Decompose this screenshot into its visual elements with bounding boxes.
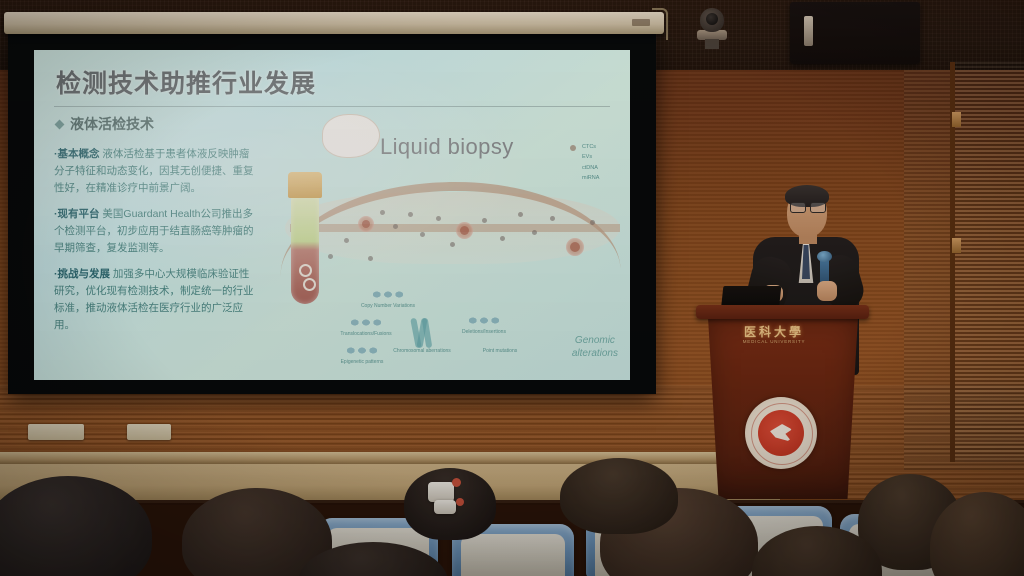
presenter-right-hand — [817, 281, 837, 301]
alteration-deletions: Deletions/Insertions — [452, 314, 516, 335]
particle — [450, 242, 455, 247]
dna-helix-icon — [467, 314, 501, 327]
ctc-nucleus-2 — [460, 226, 469, 235]
illustration-heading: Liquid biopsy — [380, 134, 514, 160]
lectern-top-surface — [696, 305, 869, 319]
alteration-epigenetic: Epigenetic patterns — [330, 344, 394, 365]
eyeglasses-icon — [790, 202, 824, 211]
audience-head — [0, 476, 152, 576]
particle — [550, 216, 555, 221]
camera-lens — [706, 13, 718, 25]
particle — [408, 212, 413, 217]
hair-clip-bead — [452, 478, 461, 487]
lens-right — [810, 202, 826, 213]
particle — [393, 224, 398, 229]
lens-left — [790, 202, 806, 213]
paragraph-lead-1: ·基本概念 — [54, 148, 100, 160]
university-name-en: MEDICAL UNIVERSITY — [714, 339, 834, 344]
particle — [368, 256, 373, 261]
roller-brand-logo — [632, 19, 650, 26]
slide-subtitle: 液体活检技术 — [56, 114, 154, 134]
chromatid — [422, 318, 433, 349]
particle — [482, 218, 487, 223]
tumor-cloud-icon — [322, 114, 380, 158]
diamond-bullet-icon — [55, 120, 65, 130]
slide-title: 检测技术助推行业发展 — [56, 64, 316, 100]
alteration-copy-number: Copy Number Variations — [356, 288, 420, 309]
genomic-alterations-label: Genomic alterations — [572, 335, 618, 360]
audience-area — [0, 430, 1024, 576]
ctc-nucleus-1 — [362, 220, 370, 228]
particle — [328, 254, 333, 259]
alteration-point-mutations: Point mutations — [468, 348, 532, 354]
tube-cell-1 — [299, 264, 312, 277]
ptz-camera-icon — [697, 8, 727, 48]
dna-helix-icon — [349, 316, 383, 329]
illustration-legend: CTCs EVs ctDNA miRNA — [582, 142, 630, 184]
hair-clip-accessory — [428, 482, 454, 502]
door-hinge-bottom — [952, 238, 961, 253]
particle — [500, 236, 505, 241]
dna-helix-icon — [345, 344, 379, 357]
legend-item-ctcs: CTCs — [582, 142, 630, 152]
presentation-slide: 检测技术助推行业发展 液体活检技术 ·基本概念 液体活检基于患者体液反映肿瘤分子… — [34, 50, 630, 380]
lecture-hall-photo: 检测技术助推行业发展 液体活检技术 ·基本概念 液体活检基于患者体液反映肿瘤分子… — [0, 0, 1024, 576]
seat-cushion — [461, 534, 565, 576]
speaker-strip — [804, 16, 813, 46]
microphone-head — [817, 251, 832, 262]
alteration-chromosomal: Chromosomal aberrations — [390, 348, 454, 354]
dna-helix-icon — [371, 288, 405, 301]
chromosome-icon — [410, 318, 436, 348]
screen-roller-housing — [4, 12, 664, 34]
paragraph-lead-3: ·挑战与发展 — [54, 268, 110, 280]
particle — [590, 220, 595, 225]
camera-mount — [705, 39, 719, 49]
legend-item-ctdna: ctDNA — [582, 163, 630, 173]
paragraph-lead-2: ·现有平台 — [54, 208, 100, 220]
side-door[interactable] — [950, 62, 1024, 462]
blood-collection-tube-icon — [288, 172, 322, 302]
particle — [518, 212, 523, 217]
ctc-nucleus-3 — [570, 242, 580, 252]
slide-body-text: ·基本概念 液体活检基于患者体液反映肿瘤分子特征和动态变化，因其无创便捷、重复性… — [54, 146, 256, 343]
hair-clip-accessory — [434, 500, 456, 514]
slide-paragraph-1: ·基本概念 液体活检基于患者体液反映肿瘤分子特征和动态变化，因其无创便捷、重复性… — [54, 146, 256, 197]
projection-screen: 检测技术助推行业发展 液体活检技术 ·基本概念 液体活检基于患者体液反映肿瘤分子… — [8, 32, 656, 394]
liquid-biopsy-illustration: Liquid biopsy — [260, 120, 620, 378]
tube-cap — [288, 172, 322, 198]
particle — [532, 230, 537, 235]
legend-item-mirna: miRNA — [582, 173, 630, 183]
slide-title-divider — [54, 106, 610, 107]
legend-dot-icon — [570, 145, 576, 151]
particle — [420, 232, 425, 237]
legend-item-evs: EVs — [582, 152, 630, 162]
particle — [436, 216, 441, 221]
hair-clip-bead — [456, 498, 464, 506]
wall-speaker-icon — [790, 2, 920, 64]
door-hinge-top — [952, 112, 961, 127]
audience-head — [560, 458, 678, 534]
particle — [344, 238, 349, 243]
university-name-cn: 医科大學 — [714, 323, 834, 340]
particle — [380, 210, 385, 215]
slide-paragraph-2: ·现有平台 美国Guardant Health公司推出多个检测平台，初步应用于结… — [54, 206, 256, 257]
alteration-translocations: Translocations/Fusions — [334, 316, 398, 337]
slide-paragraph-3: ·挑战与发展 加强多中心大规模临床验证性研究，优化现有检测技术，制定统一的行业标… — [54, 266, 256, 334]
tube-cell-2 — [303, 278, 316, 291]
